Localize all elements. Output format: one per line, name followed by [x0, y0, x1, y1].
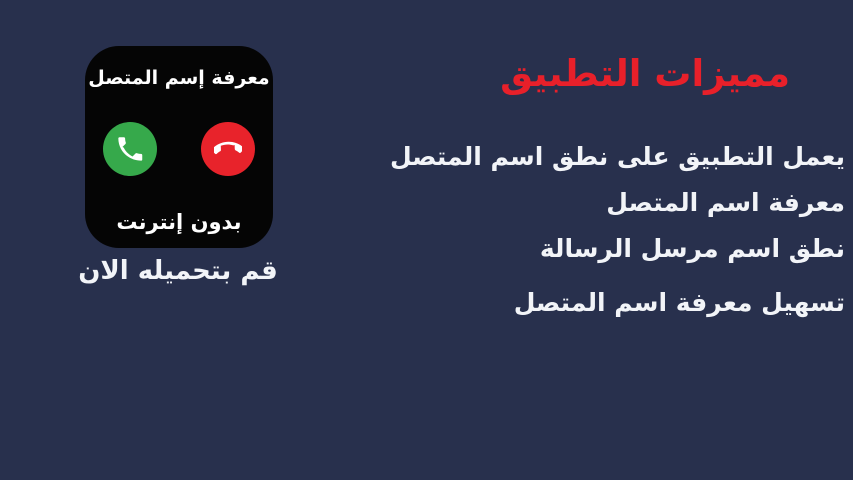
download-caption: قم بتحميله الان — [0, 256, 356, 286]
phone-accept-icon — [116, 135, 144, 163]
phone-decline-icon — [214, 135, 242, 163]
features-list: يعمل التطبيق على نطق اسم المتصل معرفة اس… — [355, 143, 845, 317]
feature-item: معرفة اسم المتصل — [355, 189, 845, 217]
call-buttons-row — [85, 114, 273, 184]
promo-canvas: معرفة إسم المتصل — [0, 0, 853, 480]
app-preview-column: معرفة إسم المتصل — [0, 0, 356, 480]
app-icon-title: معرفة إسم المتصل — [85, 68, 273, 89]
phone-decline-button[interactable] — [201, 122, 255, 176]
features-heading: مميزات التطبيق — [500, 54, 790, 95]
feature-item: نطق اسم مرسل الرسالة — [355, 235, 845, 263]
features-column: مميزات التطبيق يعمل التطبيق على نطق اسم … — [355, 0, 845, 480]
app-icon-subtitle: بدون إنترنت — [85, 211, 273, 234]
phone-accept-button[interactable] — [103, 122, 157, 176]
feature-item: تسهيل معرفة اسم المتصل — [355, 289, 845, 317]
app-icon-card[interactable]: معرفة إسم المتصل — [85, 46, 273, 248]
feature-item: يعمل التطبيق على نطق اسم المتصل — [355, 143, 845, 171]
